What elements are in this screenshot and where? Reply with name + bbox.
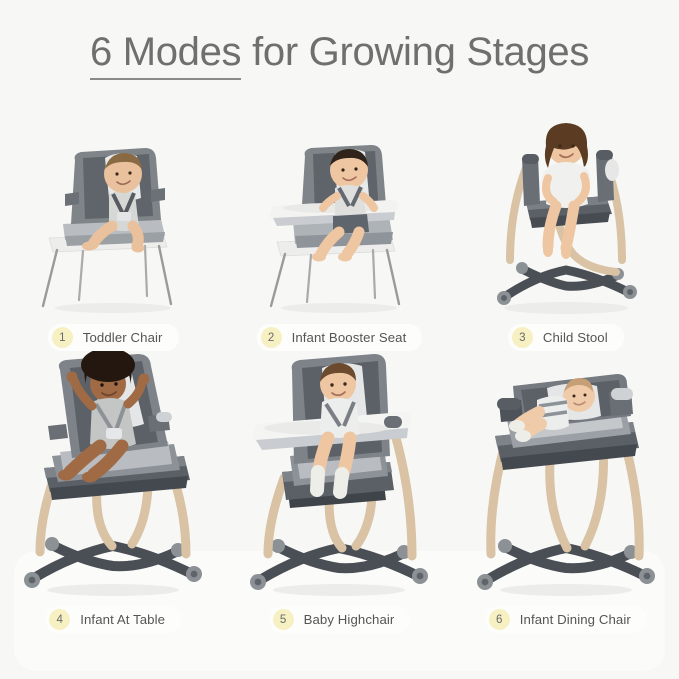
mode-badge-3: 3 — [512, 327, 533, 348]
product-image-infant-booster-seat — [226, 96, 452, 320]
mode-badge-4: 4 — [49, 609, 70, 630]
product-feature-graphic: 6 Modes for Growing Stages — [0, 0, 679, 679]
child-stool-illustration — [466, 110, 666, 320]
page-title-highlight: 6 Modes — [90, 30, 241, 80]
mode-label-text-2: Infant Booster Seat — [292, 330, 407, 345]
product-image-toddler-chair — [0, 96, 226, 320]
mode-label-text-1: Toddler Chair — [83, 330, 163, 345]
mode-badge-2: 2 — [261, 327, 282, 348]
mode-label-text-3: Child Stool — [543, 330, 608, 345]
mode-label-3[interactable]: 3 Child Stool — [508, 324, 624, 351]
mode-card-6[interactable]: 6 Infant Dining Chair — [453, 351, 679, 651]
product-image-child-stool — [453, 96, 679, 320]
mode-badge-5: 5 — [273, 609, 294, 630]
infant-dining-chair-illustration — [461, 340, 671, 602]
mode-label-text-4: Infant At Table — [80, 612, 165, 627]
infant-booster-seat-illustration — [239, 120, 439, 320]
mode-card-1[interactable]: 1 Toddler Chair — [0, 96, 226, 351]
mode-label-5[interactable]: 5 Baby Highchair — [269, 606, 411, 633]
mode-card-5[interactable]: 5 Baby Highchair — [226, 351, 452, 651]
mode-label-2[interactable]: 2 Infant Booster Seat — [257, 324, 423, 351]
page-title-rest: for Growing Stages — [241, 30, 589, 74]
mode-card-4[interactable]: 4 Infant At Table — [0, 351, 226, 651]
modes-grid: 1 Toddler Chair — [0, 96, 679, 666]
mode-card-2[interactable]: 2 Infant Booster Seat — [226, 96, 452, 351]
mode-label-4[interactable]: 4 Infant At Table — [45, 606, 181, 633]
mode-label-text-6: Infant Dining Chair — [520, 612, 631, 627]
mode-badge-1: 1 — [52, 327, 73, 348]
mode-label-1[interactable]: 1 Toddler Chair — [48, 324, 179, 351]
toddler-chair-illustration — [13, 120, 213, 320]
mode-label-text-5: Baby Highchair — [304, 612, 395, 627]
page-title: 6 Modes for Growing Stages — [0, 26, 679, 78]
baby-highchair-illustration — [234, 340, 444, 602]
product-image-baby-highchair — [226, 340, 452, 602]
mode-badge-6: 6 — [489, 609, 510, 630]
product-image-infant-dining-chair — [453, 340, 679, 602]
product-image-infant-at-table — [0, 340, 226, 602]
mode-label-6[interactable]: 6 Infant Dining Chair — [485, 606, 647, 633]
infant-at-table-illustration — [8, 340, 218, 602]
mode-card-3[interactable]: 3 Child Stool — [453, 96, 679, 351]
